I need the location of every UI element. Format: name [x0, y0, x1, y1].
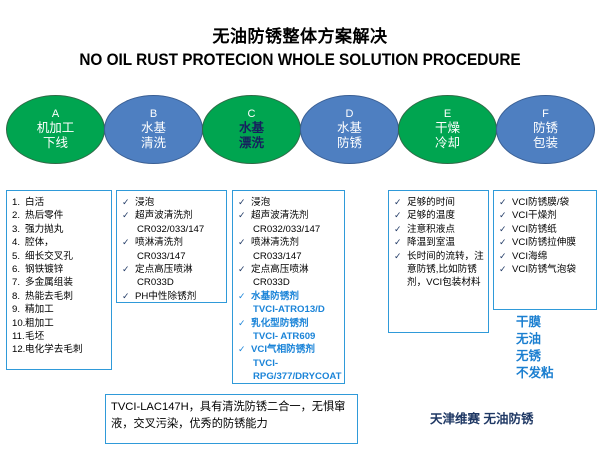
list-item: 12.电化学去毛刺 [12, 343, 108, 356]
check-icon: ✓ [499, 250, 512, 263]
list-item: 7.多金属组装 [12, 276, 108, 289]
list-item: 4.腔体， [12, 236, 108, 249]
list-item: 11.毛坯 [12, 330, 108, 343]
list-item-label: 细长交叉孔 [25, 250, 108, 263]
check-icon: ✓ [238, 196, 251, 209]
list-item-label: TVCI- RPG/377/DRYCOAT [238, 357, 342, 384]
process-stage-c[interactable]: C水基漂洗 [202, 95, 301, 164]
process-stage-e[interactable]: E干燥冷却 [398, 95, 497, 164]
list-item: ✓足够的时间 [394, 196, 485, 209]
list-item-label: 注意积液点 [407, 223, 485, 236]
list-item: CR033D [122, 276, 223, 289]
product-highlight-text: TVCI-LAC147H，具有清洗防锈二合一，无惧窜液，交叉污染，优秀的防锈能力 [106, 395, 357, 433]
list-number: 11. [12, 330, 25, 343]
list-item: ✓浸泡 [122, 196, 223, 209]
list-item-label: VCI防锈膜/袋 [512, 196, 593, 209]
list-item-label: 长时间的流转，注意防锈,比如防锈剂，VCI包装材料 [407, 250, 485, 290]
list-item: ✓VCI海绵 [499, 250, 593, 263]
dry-film-caption: 干膜无油无锈不发粘 [516, 314, 600, 382]
dry-film-caption-line: 无锈 [516, 348, 600, 365]
stage-label-line2: 包装 [533, 136, 558, 151]
list-item: ✓超声波清洗剂 [238, 209, 341, 222]
list-item-label: 足够的时间 [407, 196, 485, 209]
check-icon: ✓ [499, 196, 512, 209]
list-number: 2. [12, 209, 25, 222]
list-item: CR032/033/147 [238, 223, 341, 236]
list-item-label: 喷淋清洗剂 [135, 236, 223, 249]
list-item-label: 浸泡 [251, 196, 341, 209]
dry-film-caption-line: 无油 [516, 331, 600, 348]
list-item-label: 热能去毛刺 [25, 290, 108, 303]
check-icon: ✓ [238, 209, 251, 222]
list-number: 8. [12, 290, 25, 303]
list-item: ✓VCI干燥剂 [499, 209, 593, 222]
page-title: 无油防锈整体方案解决 NO OIL RUST PROTECION WHOLE S… [0, 26, 600, 71]
list-item: CR033/147 [122, 250, 223, 263]
list-item-label: 浸泡 [135, 196, 223, 209]
list-number: 1. [12, 196, 25, 209]
list-item-label: CR033/147 [238, 250, 341, 263]
check-icon: ✓ [122, 290, 135, 303]
detail-box-water-rinsing: ✓浸泡✓超声波清洗剂CR032/033/147✓喷淋清洗剂CR033/147✓定… [232, 190, 345, 384]
list-item-label: 超声波清洗剂 [251, 209, 341, 222]
list-item: ✓喷淋清洗剂 [122, 236, 223, 249]
check-icon: ✓ [394, 236, 407, 249]
list-item: 10.粗加工 [12, 317, 108, 330]
list-item: CR033/147 [238, 250, 341, 263]
process-stage-b[interactable]: B水基清洗 [104, 95, 203, 164]
list-item-label: VCI防锈纸 [512, 223, 593, 236]
detail-list-c: ✓浸泡✓超声波清洗剂CR032/033/147✓喷淋清洗剂CR033/147✓定… [238, 196, 341, 384]
check-icon: ✓ [238, 263, 251, 276]
list-item-label: CR032/033/147 [238, 223, 341, 236]
list-item-label: VCI防锈拉伸膜 [512, 236, 593, 249]
check-icon: ✓ [394, 250, 407, 263]
detail-list-e: ✓足够的时间✓足够的温度✓注意积液点✓降温到室温✓长时间的流转，注意防锈,比如防… [394, 196, 485, 290]
check-icon: ✓ [499, 236, 512, 249]
list-item: ✓注意积液点 [394, 223, 485, 236]
check-icon: ✓ [122, 209, 135, 222]
process-stage-a[interactable]: A机加工下线 [6, 95, 105, 164]
list-item-label: VCI气相防锈剂 [251, 343, 341, 356]
list-item: ✓VCI防锈拉伸膜 [499, 236, 593, 249]
list-item-label: 定点高压喷淋 [251, 263, 341, 276]
stage-label-line1: 防锈 [533, 121, 558, 136]
check-icon: ✓ [394, 209, 407, 222]
list-item: ✓超声波清洗剂 [122, 209, 223, 222]
list-item: ✓VCI气相防锈剂 [238, 343, 341, 356]
list-item-label: CR032/033/147 [122, 223, 223, 236]
list-item-label: 白活 [25, 196, 108, 209]
process-stage-row: A机加工下线B水基清洗C水基漂洗D水基防锈E干燥冷却F防锈包装 [6, 95, 596, 165]
list-item-label: 乳化型防锈剂 [251, 317, 341, 330]
detail-list-a: 1.白活2.热后零件3.强力抛丸4.腔体，5.细长交叉孔6.钢铁镀锌7.多金属组… [12, 196, 108, 357]
list-number: 4. [12, 236, 25, 249]
list-item-label: 强力抛丸 [25, 223, 108, 236]
check-icon: ✓ [122, 263, 135, 276]
list-item: ✓VCI防锈气泡袋 [499, 263, 593, 276]
product-highlight-box: TVCI-LAC147H，具有清洗防锈二合一，无惧窜液，交叉污染，优秀的防锈能力 [105, 394, 358, 444]
stage-label-line2: 冷却 [435, 136, 460, 151]
list-item: 3.强力抛丸 [12, 223, 108, 236]
check-icon: ✓ [499, 263, 512, 276]
list-item-label: CR033D [122, 276, 223, 289]
process-stage-f[interactable]: F防锈包装 [496, 95, 595, 164]
list-item: 6.钢铁镀锌 [12, 263, 108, 276]
list-item: ✓足够的温度 [394, 209, 485, 222]
list-item-label: 热后零件 [25, 209, 108, 222]
list-item-label: TVCI-ATRO13/D [238, 303, 341, 316]
stage-label-line1: 干燥 [435, 121, 460, 136]
page-title-english: NO OIL RUST PROTECION WHOLE SOLUTION PRO… [21, 49, 579, 71]
check-icon: ✓ [394, 196, 407, 209]
list-item-label: PH中性除锈剂 [135, 290, 223, 303]
list-item-label: VCI防锈气泡袋 [512, 263, 593, 276]
list-item: 8.热能去毛刺 [12, 290, 108, 303]
check-icon: ✓ [238, 236, 251, 249]
stage-label-line1: 水基 [337, 121, 362, 136]
stage-letter: B [150, 108, 157, 121]
list-number: 7. [12, 276, 25, 289]
list-item-label: 电化学去毛刺 [25, 343, 108, 356]
stage-letter: C [248, 108, 256, 121]
list-item-label: 粗加工 [25, 317, 108, 330]
check-icon: ✓ [122, 196, 135, 209]
list-item: 2.热后零件 [12, 209, 108, 222]
list-item: TVCI- ATR609 [238, 330, 341, 343]
list-item-label: 定点高压喷淋 [135, 263, 223, 276]
check-icon: ✓ [238, 290, 251, 303]
stage-letter: E [444, 108, 451, 121]
stage-letter: A [52, 108, 59, 121]
check-icon: ✓ [394, 223, 407, 236]
list-item: ✓定点高压喷淋 [122, 263, 223, 276]
list-item: ✓水基防锈剂 [238, 290, 341, 303]
detail-list-b: ✓浸泡✓超声波清洗剂CR032/033/147✓喷淋清洗剂CR033/147✓定… [122, 196, 223, 303]
list-item-label: 多金属组装 [25, 276, 108, 289]
list-number: 10. [12, 317, 25, 330]
check-icon: ✓ [122, 236, 135, 249]
list-item: CR033D [238, 276, 341, 289]
list-item: 1.白活 [12, 196, 108, 209]
list-number: 5. [12, 250, 25, 263]
detail-list-f: ✓VCI防锈膜/袋✓VCI干燥剂✓VCI防锈纸✓VCI防锈拉伸膜✓VCI海绵✓V… [499, 196, 593, 276]
dry-film-caption-line: 不发粘 [516, 365, 600, 382]
list-item-label: CR033/147 [122, 250, 223, 263]
list-item-label: 精加工 [25, 303, 108, 316]
list-number: 12. [12, 343, 25, 356]
list-item: ✓喷淋清洗剂 [238, 236, 341, 249]
stage-label-line2: 防锈 [337, 136, 362, 151]
list-item-label: 降温到室温 [407, 236, 485, 249]
page-title-chinese: 无油防锈整体方案解决 [0, 26, 600, 49]
list-item-label: 水基防锈剂 [251, 290, 341, 303]
list-item: ✓VCI防锈膜/袋 [499, 196, 593, 209]
check-icon: ✓ [499, 223, 512, 236]
list-item-label: 钢铁镀锌 [25, 263, 108, 276]
stage-label-line2: 下线 [43, 136, 68, 151]
list-item: ✓浸泡 [238, 196, 341, 209]
list-item: CR032/033/147 [122, 223, 223, 236]
detail-box-water-cleaning: ✓浸泡✓超声波清洗剂CR032/033/147✓喷淋清洗剂CR033/147✓定… [116, 190, 227, 303]
list-item: ✓长时间的流转，注意防锈,比如防锈剂，VCI包装材料 [394, 250, 485, 290]
list-item: 5.细长交叉孔 [12, 250, 108, 263]
detail-box-drying-cooling: ✓足够的时间✓足够的温度✓注意积液点✓降温到室温✓长时间的流转，注意防锈,比如防… [388, 190, 489, 333]
list-item: ✓定点高压喷淋 [238, 263, 341, 276]
list-item: ✓VCI防锈纸 [499, 223, 593, 236]
list-item: 9.精加工 [12, 303, 108, 316]
detail-box-machining: 1.白活2.热后零件3.强力抛丸4.腔体，5.细长交叉孔6.钢铁镀锌7.多金属组… [6, 190, 112, 370]
list-item-label: TVCI- ATR609 [238, 330, 341, 343]
list-item: TVCI- RPG/377/DRYCOAT [238, 357, 341, 384]
stage-letter: F [542, 108, 549, 121]
check-icon: ✓ [238, 343, 251, 356]
list-item-label: 毛坯 [25, 330, 108, 343]
brand-caption: 天津维赛 无油防锈 [430, 408, 533, 427]
dry-film-caption-line: 干膜 [516, 314, 600, 331]
detail-box-rust-packaging: ✓VCI防锈膜/袋✓VCI干燥剂✓VCI防锈纸✓VCI防锈拉伸膜✓VCI海绵✓V… [493, 190, 597, 310]
list-item-label: 腔体， [25, 236, 108, 249]
list-item: TVCI-ATRO13/D [238, 303, 341, 316]
list-item: ✓乳化型防锈剂 [238, 317, 341, 330]
list-item-label: 足够的温度 [407, 209, 485, 222]
list-number: 3. [12, 223, 25, 236]
list-item-label: 超声波清洗剂 [135, 209, 223, 222]
check-icon: ✓ [238, 317, 251, 330]
list-item-label: CR033D [238, 276, 341, 289]
stage-label-line1: 水基 [141, 121, 166, 136]
process-stage-d[interactable]: D水基防锈 [300, 95, 399, 164]
stage-label-line1: 水基 [239, 121, 264, 136]
list-item: ✓降温到室温 [394, 236, 485, 249]
list-item-label: VCI干燥剂 [512, 209, 593, 222]
list-item: ✓PH中性除锈剂 [122, 290, 223, 303]
stage-label-line2: 清洗 [141, 136, 166, 151]
list-item-label: VCI海绵 [512, 250, 593, 263]
list-number: 9. [12, 303, 25, 316]
check-icon: ✓ [499, 209, 512, 222]
list-item-label: 喷淋清洗剂 [251, 236, 341, 249]
stage-letter: D [346, 108, 354, 121]
list-number: 6. [12, 263, 25, 276]
stage-label-line2: 漂洗 [239, 136, 264, 151]
stage-label-line1: 机加工 [37, 121, 75, 136]
